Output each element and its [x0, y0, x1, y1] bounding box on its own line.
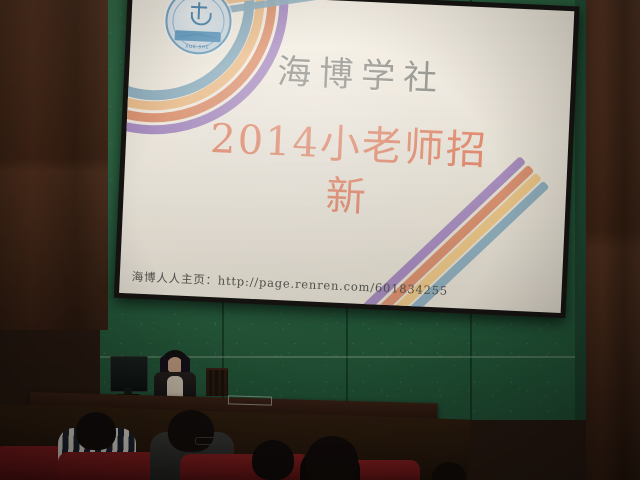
stripe-blue	[189, 0, 574, 19]
podium-chair	[206, 368, 228, 396]
desk-tray	[228, 395, 272, 405]
presentation-slide: HAI BO XUE SHE 海博学社 2014小老师招 新 海博人人主页：ht…	[119, 0, 574, 313]
wall-panel-left	[0, 0, 108, 330]
podium-monitor	[110, 356, 148, 392]
audience-head	[252, 440, 294, 480]
audience-head	[76, 412, 116, 450]
glasses-icon	[195, 437, 217, 445]
lecture-hall-photo: HAI BO XUE SHE 海博学社 2014小老师招 新 海博人人主页：ht…	[0, 0, 640, 480]
presenter	[152, 350, 198, 400]
audience-head	[168, 410, 214, 452]
slide-headline: 2014小老师招 新	[141, 110, 555, 232]
audience-head	[306, 436, 358, 480]
wall-panel-right	[586, 0, 640, 480]
projection-screen: HAI BO XUE SHE 海博学社 2014小老师招 新 海博人人主页：ht…	[114, 0, 580, 318]
screen-frame: HAI BO XUE SHE 海博学社 2014小老师招 新 海博人人主页：ht…	[114, 0, 580, 318]
